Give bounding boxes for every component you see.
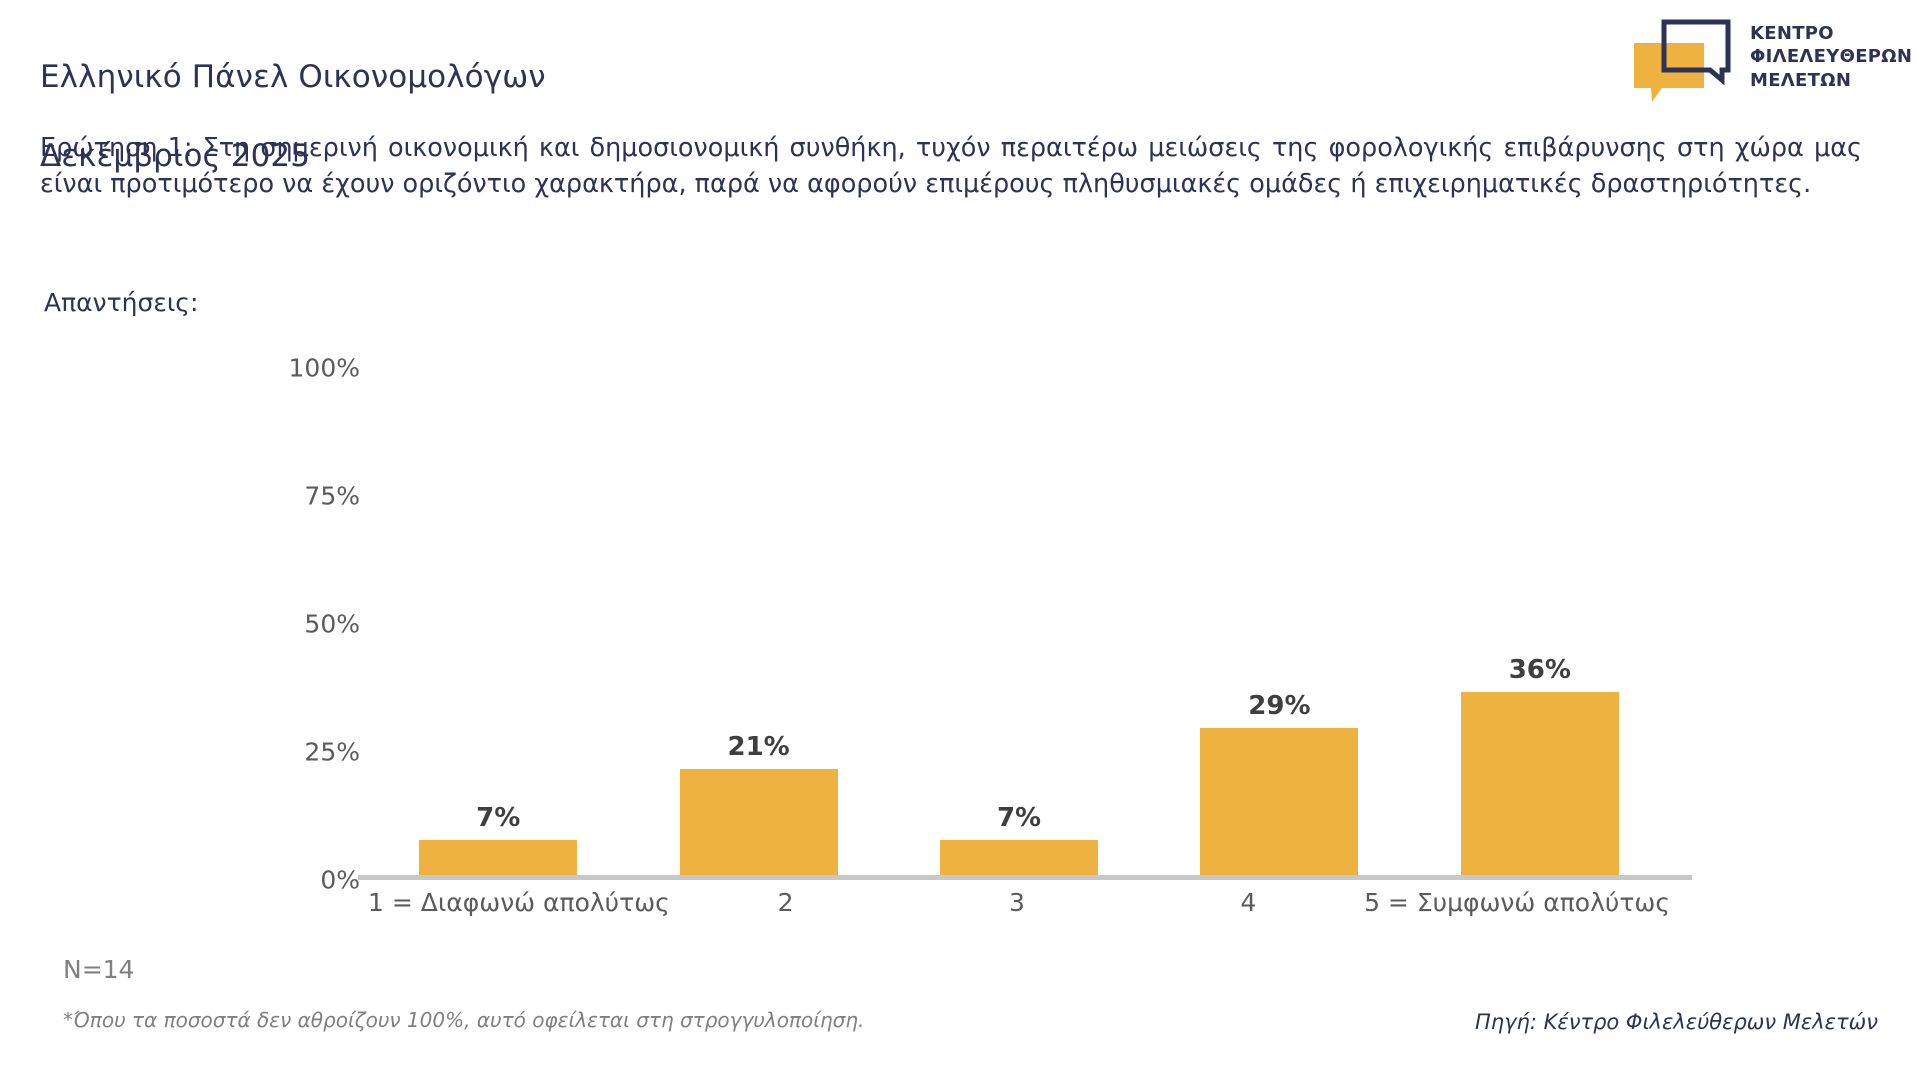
bar-value-label: 21% [727, 732, 789, 762]
y-axis-tick-label: 25% [304, 738, 360, 767]
x-axis-line [358, 875, 1692, 880]
bar-slot: 7% [889, 368, 1149, 875]
speech-bubble-logo-icon [1632, 18, 1740, 102]
kefim-logo: ΚΕΝΤΡΟ ΦΙΛΕΛΕΥΘΕΡΩΝ ΜΕΛΕΤΩΝ [1632, 16, 1902, 106]
page-title-line-1: Ελληνικό Πάνελ Οικονομολόγων [40, 58, 546, 98]
source-note: Πηγή: Κέντρο Φιλελεύθερων Μελετών [1475, 1010, 1878, 1034]
answers-label: Απαντήσεις: [44, 288, 198, 317]
bar-value-label: 36% [1509, 655, 1571, 685]
logo-wordmark-line-2: ΦΙΛΕΛΕΥΘΕΡΩΝ [1750, 45, 1912, 68]
bar-slot: 36% [1410, 368, 1670, 875]
bar[interactable] [1200, 728, 1358, 875]
bar[interactable] [680, 769, 838, 875]
rounding-note: *Όπου τα ποσοστά δεν αθροίζουν 100%, αυτ… [63, 1008, 864, 1032]
y-axis-tick-label: 100% [289, 354, 360, 383]
logo-wordmark-line-3: ΜΕΛΕΤΩΝ [1750, 69, 1912, 92]
x-axis-tick-label: 1 = Διαφωνώ απολύτως [368, 888, 670, 917]
x-axis-tick-label: 4 [1133, 888, 1364, 917]
logo-wordmark: ΚΕΝΤΡΟ ΦΙΛΕΛΕΥΘΕΡΩΝ ΜΕΛΕΤΩΝ [1750, 22, 1912, 92]
y-axis: 100%75%50%25%0% [250, 368, 368, 880]
y-axis-tick-label: 50% [304, 610, 360, 639]
bar-slot: 29% [1149, 368, 1409, 875]
bar[interactable] [940, 840, 1098, 875]
bar[interactable] [1461, 692, 1619, 875]
bar-value-label: 7% [476, 803, 520, 833]
bar[interactable] [419, 840, 577, 875]
bar-value-label: 29% [1248, 691, 1310, 721]
y-axis-tick-label: 75% [304, 482, 360, 511]
x-axis-labels: 1 = Διαφωνώ απολύτως2345 = Συμφωνώ απολύ… [368, 888, 1670, 917]
y-axis-tick-label: 0% [320, 866, 360, 895]
logo-wordmark-line-1: ΚΕΝΤΡΟ [1750, 22, 1912, 45]
bar-value-label: 7% [997, 803, 1041, 833]
x-axis-tick-label: 3 [901, 888, 1132, 917]
question-text: Ερώτηση 1: Στη σημερινή οικονομική και δ… [40, 130, 1862, 202]
bar-slot: 7% [368, 368, 628, 875]
bar-chart: 100%75%50%25%0% 7%21%7%29%36% [250, 368, 1670, 880]
plot-area: 7%21%7%29%36% [368, 368, 1670, 880]
bar-series: 7%21%7%29%36% [368, 368, 1670, 875]
slide-root: Ελληνικό Πάνελ Οικονομολόγων Δεκέμβριος … [0, 0, 1916, 1070]
bar-slot: 21% [628, 368, 888, 875]
x-axis-tick-label: 2 [670, 888, 901, 917]
sample-size-note: N=14 [63, 955, 134, 984]
x-axis-tick-label: 5 = Συμφωνώ απολύτως [1364, 888, 1670, 917]
